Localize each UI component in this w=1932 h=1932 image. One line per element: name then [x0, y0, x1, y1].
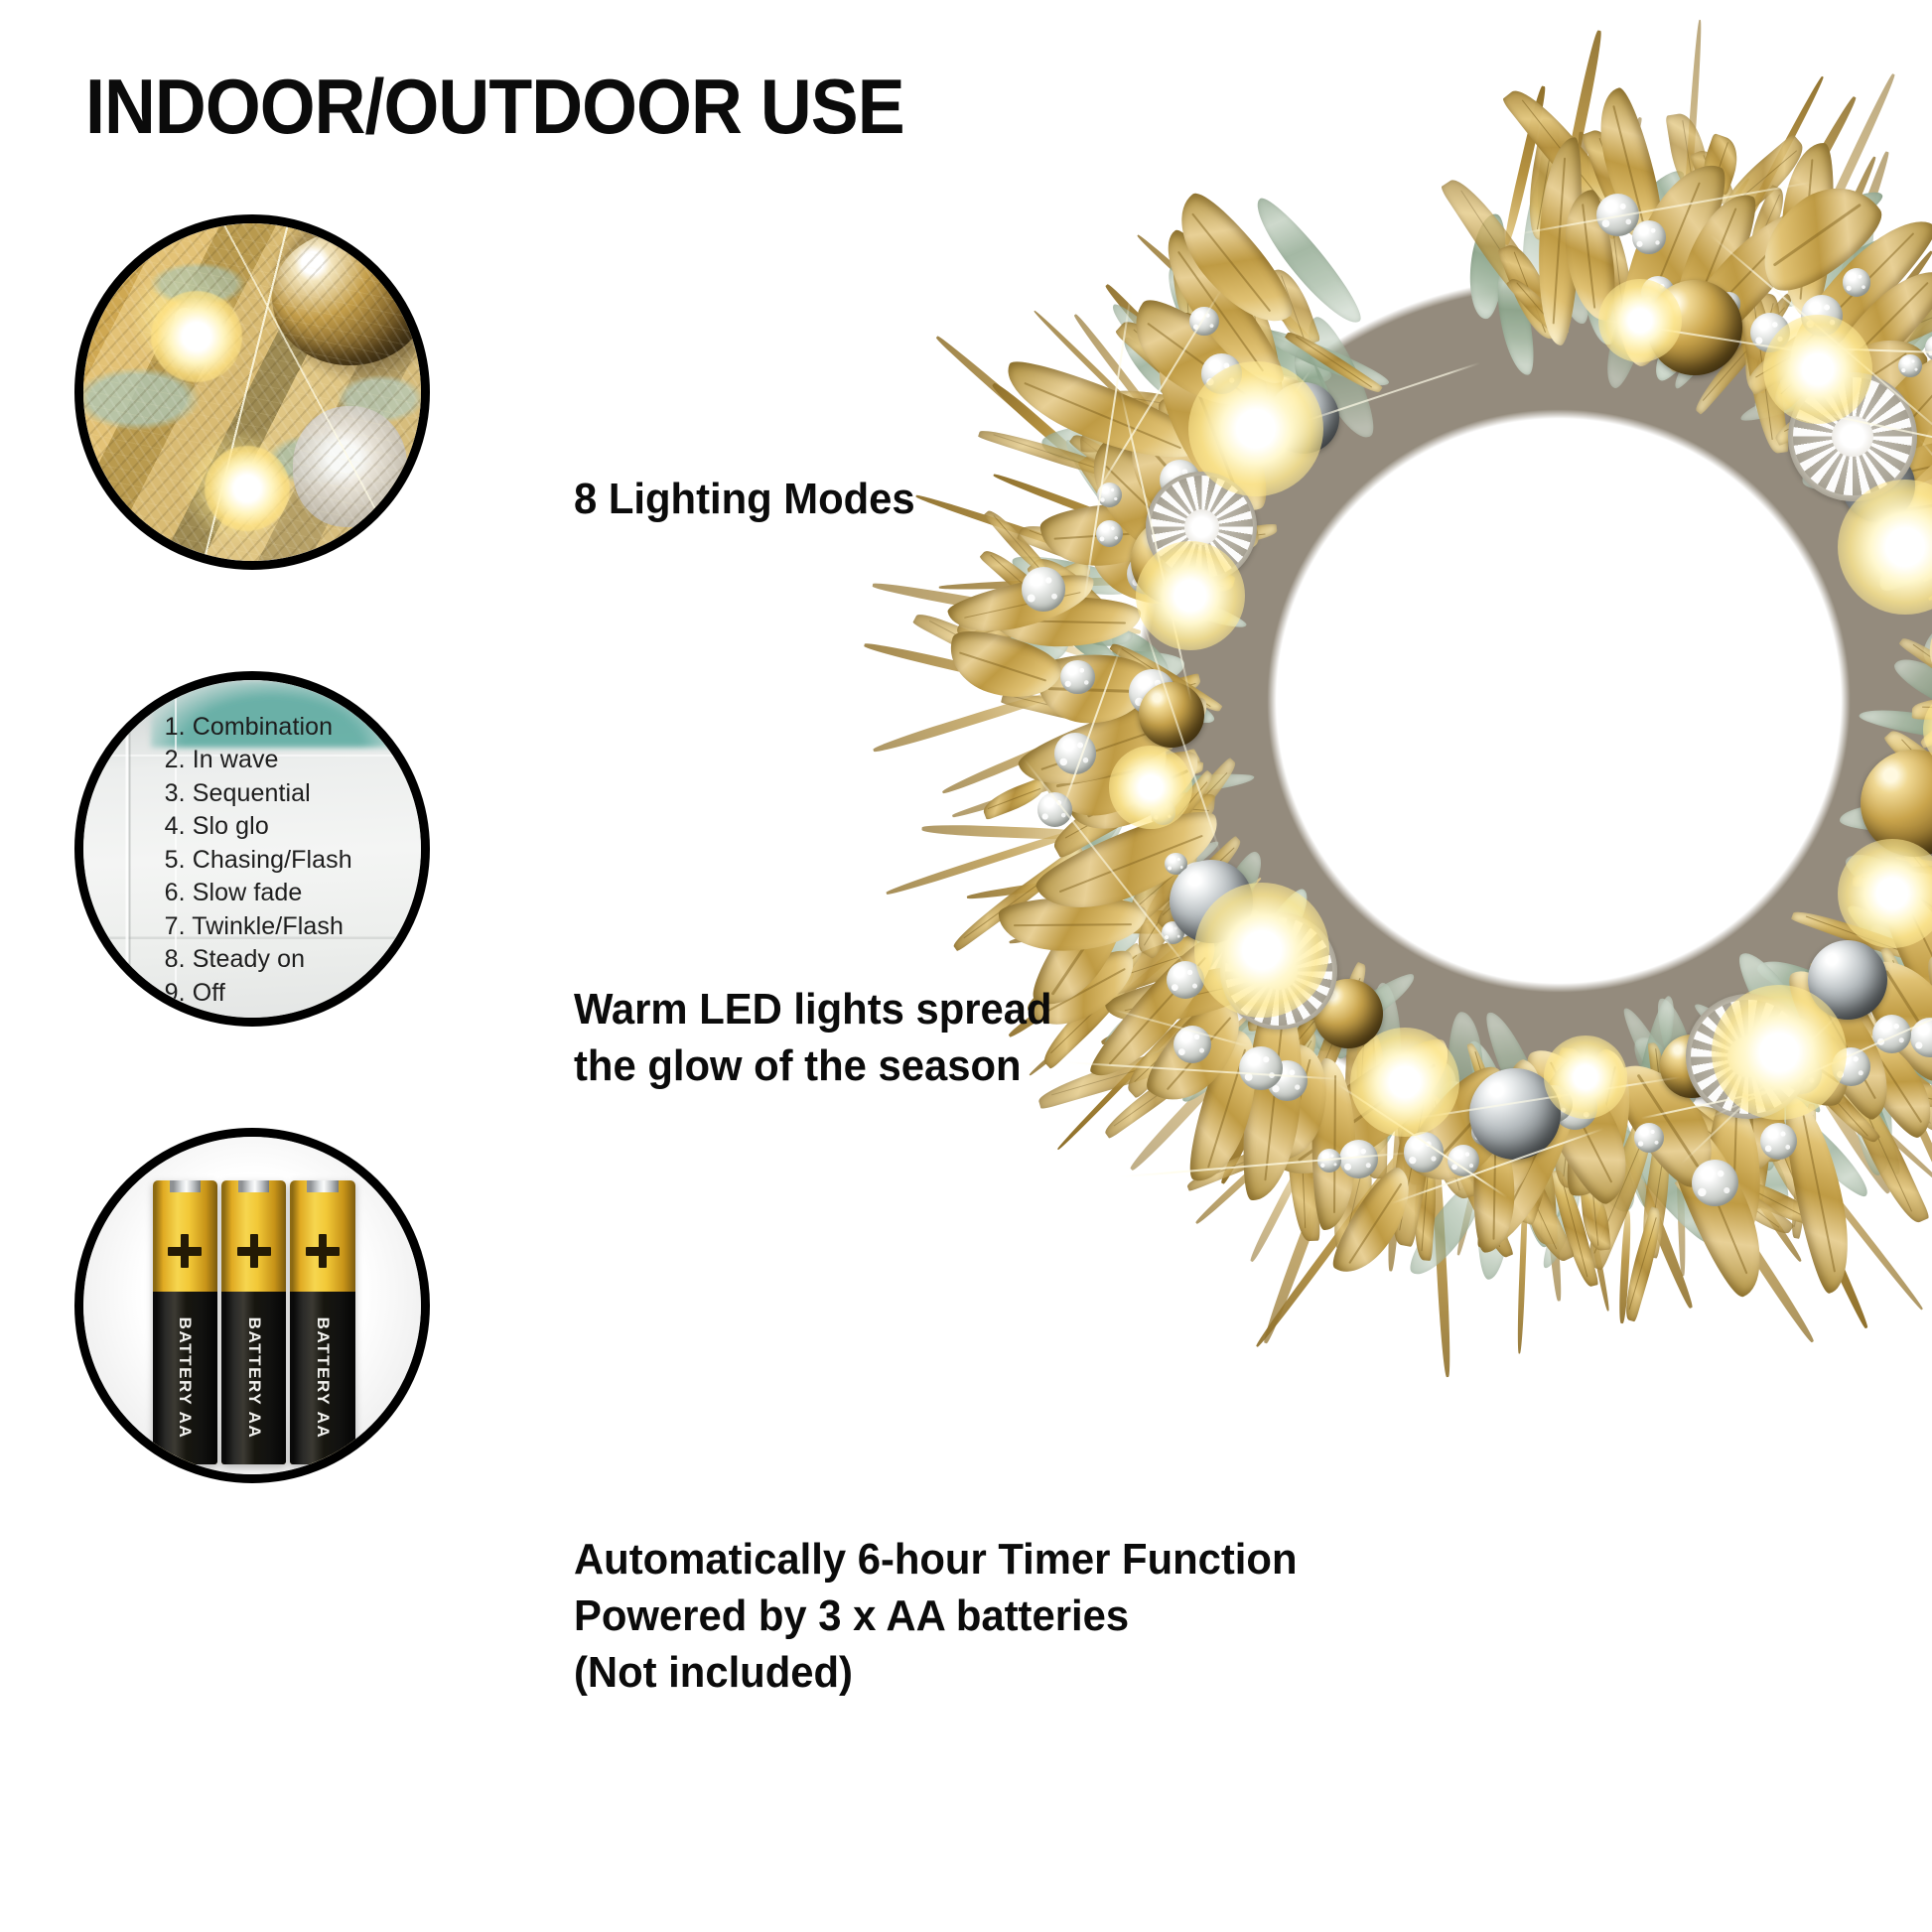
warm-led-light: [1763, 315, 1872, 424]
warm-led-light: [1712, 985, 1847, 1120]
gold-bauble: [1139, 682, 1204, 748]
battery-body: BATTERY AA: [153, 1292, 217, 1464]
battery-label: BATTERY AA: [244, 1316, 264, 1439]
silver-glitter-berry: [1632, 220, 1666, 254]
feature-caption-warm-led: Warm LED lights spread the glow of the s…: [574, 981, 1052, 1094]
aa-battery: BATTERY AA: [290, 1180, 354, 1464]
silver-glitter-berry: [1634, 1123, 1665, 1154]
lighting-mode-item: 9. Off: [165, 977, 421, 1011]
warm-led-light: [1188, 361, 1323, 496]
lighting-mode-item: 6. Slow fade: [165, 877, 421, 910]
product-feature-infographic: INDOOR/OUTDOOR USE 1. Combination2. I: [0, 0, 1932, 1932]
lighting-mode-item: 8. Steady on: [165, 943, 421, 977]
silver-glitter-berry: [1239, 1046, 1283, 1090]
warm-led-light: [1544, 1035, 1627, 1119]
battery-row: BATTERY AABATTERY AABATTERY AA: [153, 1180, 355, 1464]
feature-caption-lighting-modes: 8 Lighting Modes: [574, 471, 915, 527]
silver-glitter-berry: [1060, 660, 1095, 695]
battery-positive-terminal: [170, 1180, 201, 1192]
callout-circle-mode-list: 1. Combination2. In wave3. Sequential4. …: [74, 671, 430, 1027]
feature-caption-line: 8 Lighting Modes: [574, 471, 915, 527]
plus-icon: [237, 1234, 271, 1268]
silver-glitter-berry: [1760, 1123, 1797, 1160]
feature-caption-line: Warm LED lights spread: [574, 981, 1052, 1037]
plus-icon: [168, 1234, 202, 1268]
battery-label: BATTERY AA: [175, 1316, 195, 1439]
lighting-mode-item: 5. Chasing/Flash: [165, 844, 421, 878]
battery-body: BATTERY AA: [221, 1292, 286, 1464]
warm-led-light: [1598, 279, 1682, 362]
lighting-mode-item: 1. Combination: [165, 711, 421, 745]
warm-led-light: [1109, 746, 1192, 829]
battery-body: BATTERY AA: [290, 1292, 354, 1464]
lighting-mode-item: 4. Slo glo: [165, 810, 421, 844]
aa-battery: BATTERY AA: [153, 1180, 217, 1464]
silver-glitter-berry: [1843, 268, 1871, 297]
feature-caption-timer-power: Automatically 6-hour Timer Function Powe…: [574, 1531, 1297, 1701]
lighting-mode-item: 3. Sequential: [165, 777, 421, 811]
battery-positive-terminal: [238, 1180, 269, 1192]
feature-caption-line: Automatically 6-hour Timer Function: [574, 1531, 1297, 1587]
lighting-modes-list: 1. Combination2. In wave3. Sequential4. …: [165, 711, 421, 1011]
aa-battery: BATTERY AA: [221, 1180, 286, 1464]
silver-glitter-berry: [1692, 1160, 1738, 1206]
macro-led-light: [151, 291, 242, 382]
feature-caption-line: the glow of the season: [574, 1037, 1052, 1094]
feature-caption-line: (Not included): [574, 1644, 1297, 1701]
callout-circle-lighting-modes: [74, 214, 430, 570]
warm-led-light: [1194, 883, 1329, 1018]
plus-icon: [306, 1234, 340, 1268]
feature-caption-line: Powered by 3 x AA batteries: [574, 1587, 1297, 1644]
wreath-macro-photo: [83, 223, 421, 561]
battery-positive-terminal: [307, 1180, 338, 1192]
callout-circle-batteries: BATTERY AABATTERY AABATTERY AA: [74, 1128, 430, 1483]
wreath-illustration: [894, 36, 1932, 1366]
battery-box-photo: 1. Combination2. In wave3. Sequential4. …: [83, 680, 421, 1018]
battery-label: BATTERY AA: [313, 1316, 333, 1439]
lighting-mode-item: 7. Twinkle/Flash: [165, 910, 421, 944]
aa-batteries-photo: BATTERY AABATTERY AABATTERY AA: [83, 1137, 421, 1474]
silver-glitter-berry: [1096, 520, 1124, 548]
warm-led-light: [1350, 1028, 1459, 1137]
page-title: INDOOR/OUTDOOR USE: [85, 66, 904, 147]
lighting-mode-item: 2. In wave: [165, 744, 421, 777]
warm-led-light: [1136, 541, 1245, 650]
